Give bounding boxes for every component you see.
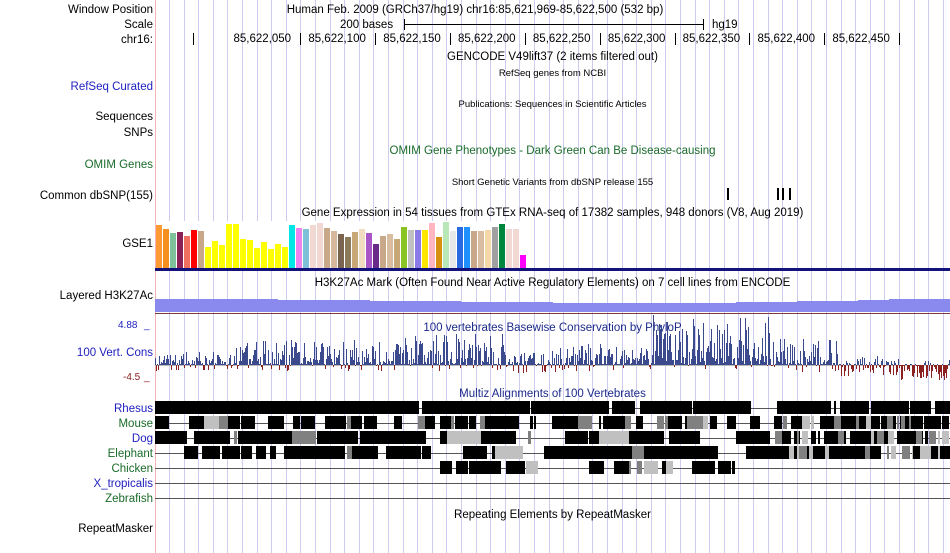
gtex-tissue-bar[interactable] [520,255,526,269]
cons-negative-bar [195,365,196,368]
alignment-block [599,416,601,429]
alignment-gap-line [155,483,950,484]
alignment-block [534,416,537,429]
alignment-block [802,416,810,429]
alignment-block [862,431,866,444]
alignment-block [902,446,910,459]
alignment-block [632,446,643,459]
ruler-label: 85,622,400 [758,33,816,45]
gtex-tissue-bar[interactable] [457,227,463,269]
cons-negative-bar [184,365,185,368]
cons-negative-bar [806,365,807,367]
cons-negative-bar [564,365,565,369]
cons-positive-bar [575,354,576,365]
gtex-tissue-bar[interactable] [261,242,267,269]
alignment-row-chicken[interactable] [155,461,950,474]
alignment-block [512,416,519,429]
gtex-tissue-bar[interactable] [247,240,253,269]
alignment-row-x-tropicalis[interactable] [155,476,950,489]
label-omim-genes[interactable]: OMIM Genes [3,159,153,171]
gtex-tissue-bar[interactable] [373,244,379,269]
alignment-block [481,431,517,444]
cons-negative-bar [542,365,543,372]
alignment-block [440,431,448,444]
cons-positive-bar [431,351,432,365]
dbsnp-variant-tick[interactable] [789,188,791,200]
label-sequences[interactable]: Sequences [3,111,153,123]
cons-positive-bar [588,344,589,365]
alignment-block [921,446,926,459]
alignment-block [270,446,276,459]
label-species-zebrafish[interactable]: Zebrafish [3,493,153,505]
cons-negative-bar [594,365,595,366]
alignment-block [351,416,362,429]
cons-negative-bar [853,365,854,371]
cons-negative-bar [819,365,820,372]
alignment-block [874,446,881,459]
cons-positive-bar [837,354,838,365]
cons-positive-bar [436,335,437,365]
cons-negative-bar [214,365,215,369]
alignment-block [834,401,836,414]
left-label-column: Window Position Scale chr16: RefSeq Cura… [0,0,153,553]
alignment-block [241,446,252,459]
alignment-block [828,416,831,429]
alignment-block [455,416,468,429]
cons-positive-bar [717,325,718,365]
gtex-tissue-bar[interactable] [219,245,225,269]
h3k27ac-layered-track[interactable] [155,296,950,312]
gtex-tissue-bar[interactable] [184,236,190,269]
alignment-block [687,416,703,429]
cons-negative-bar [500,365,501,369]
alignment-block [924,416,932,429]
alignment-block [703,416,708,429]
cons-positive-bar [236,348,237,365]
h3k27ac-segment [858,300,889,312]
dbsnp-variant-tick[interactable] [782,188,784,200]
alignment-block [447,431,481,444]
gtex-tissue-bar[interactable] [170,233,176,269]
alignment-block [155,431,187,444]
h3k27ac-segment [583,303,614,312]
cons-negative-bar [238,365,239,366]
alignment-block [394,416,403,429]
alignment-block [301,416,309,429]
alignment-block [682,401,692,414]
gtex-tissue-bar[interactable] [177,232,183,269]
gtex-tissue-bar[interactable] [317,223,323,269]
alignment-block [916,431,922,444]
cons-positive-bar [616,347,617,365]
gtex-tissue-bar[interactable] [471,231,477,269]
h3k27ac-segment [828,301,859,313]
alignment-block [940,446,945,459]
cons-positive-bar [334,349,335,365]
alignment-block [589,461,604,474]
scale-bar [404,18,704,32]
cons-negative-bar [325,365,326,369]
label-species-rhesus[interactable]: Rhesus [3,403,153,415]
label-chrom: chr16: [3,34,153,46]
gtex-tissue-bar[interactable] [506,229,512,269]
alignment-block [668,416,677,429]
alignment-block [666,461,673,474]
alignment-block [692,461,701,474]
ruler-label: 85,622,450 [832,33,890,45]
cons-negative-bar [796,365,797,370]
ruler-tick [899,33,900,45]
cons-positive-bar [541,355,542,365]
alignment-row-rhesus[interactable] [155,401,950,414]
cons-positive-bar [403,350,404,365]
alignment-block [675,446,709,459]
dbsnp-variant-tick[interactable] [727,188,729,200]
h3k27ac-segment [797,301,828,312]
cons-negative-bar [832,365,833,369]
gtex-tissue-bar[interactable] [380,236,386,269]
alignment-block [849,446,856,459]
cons-negative-bar [523,365,524,373]
gtex-tissue-bar[interactable] [296,228,302,269]
cons-negative-bar [432,365,433,368]
cons-negative-bar [507,365,508,366]
coordinate-ruler[interactable]: 85,622,05085,622,10085,622,15085,622,200… [155,33,950,47]
gtex-tissue-bar[interactable] [191,230,197,269]
cons-positive-bar [567,349,568,365]
alignment-block [659,446,675,459]
gtex-tissue-bar[interactable] [254,248,260,269]
alignment-block [317,431,352,444]
title-gtex: Gene Expression in 54 tissues from GTEx … [155,207,950,219]
h3k27ac-segment [705,303,736,313]
alignment-block [811,416,814,429]
alignment-block [877,431,884,444]
cons-positive-bar [183,354,184,365]
gtex-tissue-bar[interactable] [156,225,162,269]
cons-positive-bar [612,354,613,365]
alignment-block [909,416,911,429]
alignment-row-elephant[interactable] [155,446,950,459]
label-species-chicken[interactable]: Chicken [3,463,153,475]
alignment-block [202,446,220,459]
alignment-block [794,446,798,459]
cons-negative-bar [838,365,839,370]
ruler-label: 85,622,300 [608,33,666,45]
dbsnp-variant-tick[interactable] [777,188,779,200]
title-omim: OMIM Gene Phenotypes - Dark Green Can Be… [155,145,950,157]
alignment-block [155,416,169,429]
alignment-block [843,446,846,459]
alignment-block [767,431,770,444]
alignment-block [400,401,419,414]
gtex-tissue-bar[interactable] [429,223,435,269]
cons-negative-bar [497,365,498,370]
label-common-dbsnp[interactable]: Common dbSNP(155) [3,190,153,202]
alignment-block [512,461,521,474]
alignment-block [728,401,738,414]
cons-negative-bar [342,365,343,366]
gtex-tissue-bar[interactable] [394,239,400,269]
alignment-block [629,461,632,474]
cons-negative-bar [941,365,942,378]
cons-positive-bar [491,348,492,365]
cons-positive-bar [438,351,439,365]
cons-positive-bar [472,345,473,365]
cons-positive-bar [505,355,506,365]
gtex-tissue-bar[interactable] [212,241,218,269]
cons-negative-bar [545,365,546,372]
ruler-label: 85,622,100 [308,33,366,45]
cons-positive-bar [724,330,725,365]
alignment-block [871,401,891,414]
cons-negative-bar [623,365,624,368]
cons-positive-bar [375,351,376,365]
cons-positive-bar [393,352,394,365]
gtex-tissue-bar[interactable] [310,225,316,269]
label-species-dog[interactable]: Dog [3,433,153,445]
gtex-tissue-bar[interactable] [352,232,358,269]
gtex-tissue-bar[interactable] [408,230,414,269]
gtex-tissue-bar[interactable] [338,234,344,269]
cons-positive-bar [268,350,269,365]
cons-positive-bar [558,355,559,365]
alignment-block [625,416,631,429]
cons-negative-bar [873,365,874,373]
cons-negative-bar [271,365,272,369]
label-scale: Scale [3,19,153,31]
gtex-tissue-bar[interactable] [240,239,246,269]
cons-positive-bar [230,355,231,365]
alignment-block [736,431,767,444]
alignment-block [644,461,658,474]
gtex-tissue-bar[interactable] [282,247,288,269]
alignment-row-mouse[interactable] [155,416,950,429]
cons-negative-bar [513,365,514,371]
alignment-block [238,431,264,444]
gtex-tissue-bar[interactable] [415,230,421,269]
cons-positive-bar [416,341,417,365]
alignment-block [469,461,481,474]
gtex-tissue-bar[interactable] [478,231,484,269]
gtex-expression-barchart[interactable] [156,221,534,269]
gtex-tissue-bar[interactable] [499,224,505,269]
h3k27ac-segment [308,300,339,312]
alignment-block [565,431,589,444]
cons-positive-bar [573,347,574,365]
gtex-tissue-bar[interactable] [359,229,365,269]
cons-positive-bar [459,342,460,365]
title-h3k27ac: H3K27Ac Mark (Often Found Near Active Re… [155,277,950,289]
alignment-block [943,416,950,429]
gtex-tissue-bar[interactable] [226,224,232,269]
h3k27ac-segment [247,299,278,312]
gtex-tissue-bar[interactable] [268,249,274,269]
cons-negative-bar [546,365,547,366]
gtex-tissue-bar[interactable] [485,230,491,269]
cons-negative-bar [613,365,614,370]
alignment-block [557,401,578,414]
cons-negative-bar [466,365,467,366]
alignment-block [925,431,928,444]
cons-positive-bar [653,315,654,365]
alignment-block [938,431,940,444]
label-species-mouse[interactable]: Mouse [3,418,153,430]
cons-positive-bar [286,341,287,365]
gtex-tissue-bar[interactable] [331,231,337,269]
title-repeatmasker: Repeating Elements by RepeatMasker [155,509,950,521]
alignment-block [732,461,736,474]
cons-negative-bar [227,365,228,369]
ruler-label: 85,622,250 [533,33,591,45]
alignment-block [856,416,859,429]
cons-negative-bar [856,365,857,369]
alignment-row-dog[interactable] [155,431,950,444]
label-species-elephant[interactable]: Elephant [3,448,153,460]
cons-positive-bar [680,342,681,365]
alignment-block [612,401,635,414]
gtex-tissue-bar[interactable] [198,231,204,269]
alignment-block [897,431,903,444]
cons-negative-bar [574,365,575,366]
label-snps[interactable]: SNPs [3,127,153,139]
cons-positive-bar [543,354,544,365]
alignment-block [887,446,889,459]
alignment-block [548,401,557,414]
ruler-label: 85,622,050 [234,33,292,45]
gtex-tissue-bar[interactable] [163,229,169,269]
cons-negative-bar [788,365,789,368]
gtex-tissue-bar[interactable] [233,224,239,269]
alignment-block [578,401,610,414]
gtex-tissue-bar[interactable] [387,234,393,269]
alignment-block [850,431,853,444]
alignment-block [854,431,857,444]
cons-positive-bar [790,344,791,365]
gtex-tissue-bar[interactable] [275,244,281,269]
scale-bases-label: 200 bases [340,19,393,31]
alignment-gap-line [155,498,950,499]
gtex-tissue-bar[interactable] [205,247,211,269]
gtex-baseline [155,268,950,271]
cons-negative-bar [936,365,937,372]
h3k27ac-segment [491,302,522,312]
cons-negative-bar [904,365,905,371]
h3k27ac-segment [736,302,767,312]
cons-positive-bar [278,353,279,365]
alignment-block [204,416,219,429]
cons-negative-bar [376,365,377,366]
alignment-block [701,461,715,474]
label-repeatmasker[interactable]: RepeatMasker [3,523,153,535]
h3k27ac-segment [889,299,920,312]
alignment-block [797,431,800,444]
alignment-block [155,401,172,414]
cons-negative-bar [865,365,866,368]
gtex-tissue-bar[interactable] [492,227,498,269]
cons-positive-bar [411,348,412,365]
gtex-tissue-bar[interactable] [289,225,295,269]
gtex-tissue-bar[interactable] [450,231,456,269]
cons-negative-bar [927,365,928,376]
phylop-conservation-track[interactable] [155,330,950,382]
cons-positive-bar [703,323,704,365]
cons-negative-bar [947,365,948,369]
cons-positive-bar [766,356,767,365]
alignment-row-zebrafish[interactable] [155,491,950,504]
alignment-block [829,401,831,414]
cons-negative-bar [835,365,836,371]
cons-negative-bar [349,365,350,369]
cons-negative-bar [774,365,775,367]
alignment-block [818,431,820,444]
cons-negative-bar [902,365,903,379]
alignment-block [440,416,452,429]
alignment-gap-line [155,468,950,469]
h3k27ac-segment [339,300,370,312]
alignment-block [892,401,909,414]
cons-negative-bar [890,365,891,374]
dbsnp-variant-track[interactable] [155,188,950,202]
gtex-tissue-bar[interactable] [303,229,309,269]
cons-positive-bar [339,350,340,365]
gtex-tissue-bar[interactable] [324,228,330,269]
gtex-tissue-bar[interactable] [366,233,372,269]
gtex-tissue-bar[interactable] [436,237,442,269]
cons-positive-bar [699,335,700,365]
label-100-vert-cons[interactable]: 100 Vert. Cons [3,347,153,359]
label-species-x-tropicalis[interactable]: X_tropicalis [3,478,153,490]
cons-negative-bar [156,365,157,371]
alignment-block [830,446,838,459]
label-refseq-curated[interactable]: RefSeq Curated [3,81,153,93]
cons-negative-bar [772,365,773,366]
cons-negative-bar [158,365,159,370]
alignment-block [382,431,400,444]
alignment-block [531,401,549,414]
label-gse1[interactable]: GSE1 [3,238,153,250]
alignment-block [887,416,894,429]
alignment-block [614,461,629,474]
alignment-block [425,416,435,429]
gtex-tissue-bar[interactable] [401,227,407,269]
gtex-tissue-bar[interactable] [464,227,470,269]
alignment-block [564,416,578,429]
alignment-block [678,416,682,429]
title-multiz: Multiz Alignments of 100 Vertebrates [155,388,950,400]
alignment-block [578,416,592,429]
ruler-tick [675,33,676,45]
cons-negative-bar [518,365,519,373]
cons-positive-bar [554,358,555,365]
cons-negative-bar [736,365,737,369]
alignment-block [775,416,781,429]
alignment-block [222,446,241,459]
label-layered-h3k27ac[interactable]: Layered H3K27Ac [3,290,153,302]
gtex-tissue-bar[interactable] [345,237,351,269]
cons-negative-bar [842,365,843,367]
gtex-tissue-bar[interactable] [443,222,449,269]
alignment-block [931,446,938,459]
gtex-tissue-bar[interactable] [422,230,428,269]
cons-positive-bar [787,347,788,365]
alignment-block [383,401,400,414]
gtex-tissue-bar[interactable] [513,229,519,269]
alignment-block [497,416,507,429]
h3k27ac-segment [369,301,400,313]
cons-positive-bar [213,352,214,365]
cons-negative-bar [876,365,877,368]
